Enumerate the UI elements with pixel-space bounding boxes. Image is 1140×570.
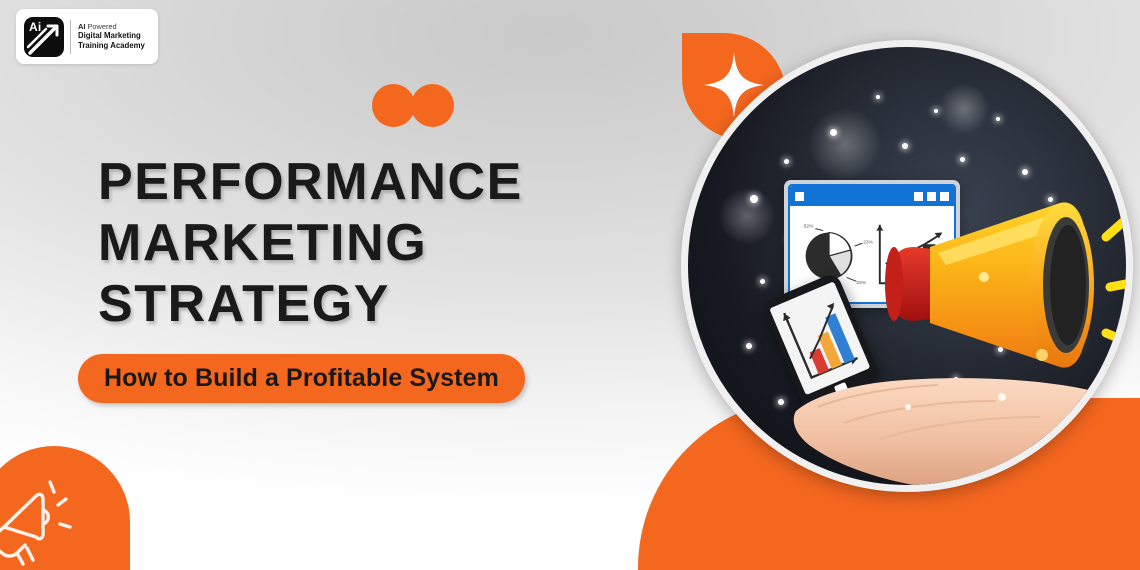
megaphone-icon — [0, 472, 92, 567]
hand-palm — [794, 378, 1133, 492]
orange-dot-icon-right — [411, 84, 454, 127]
subtitle-text: How to Build a Profitable System — [104, 364, 499, 393]
headline-line-2: MARKETING — [98, 213, 523, 274]
logo-tagline-line1: AI Powered — [78, 22, 145, 31]
logo-text-block: AI Powered Digital Marketing Training Ac… — [78, 22, 145, 50]
brand-logo-badge[interactable]: Ai AI Powered Digital Marketing Training… — [16, 9, 158, 64]
open-palm-hand — [788, 347, 1133, 492]
headline-line-3: STRATEGY — [98, 274, 523, 335]
bottom-left-arch-decoration — [0, 446, 130, 570]
hero-image-circle: 52% 23% 25% — [681, 40, 1133, 492]
svg-text:52%: 52% — [804, 224, 814, 230]
headline-line-1: PERFORMANCE — [98, 152, 523, 213]
promo-banner: Ai AI Powered Digital Marketing Training… — [0, 0, 1140, 570]
browser-logo-square — [795, 192, 804, 201]
logo-tagline-line3: Training Academy — [78, 41, 145, 51]
subtitle-pill: How to Build a Profitable System — [78, 354, 525, 403]
sound-wave-dashes — [1096, 197, 1133, 367]
logo-tagline-line2: Digital Marketing — [78, 31, 145, 41]
growth-arrow-icon — [24, 17, 64, 57]
orange-dots-decoration — [372, 84, 454, 127]
logo-mark-icon: Ai — [24, 17, 64, 57]
orange-dot-icon-left — [372, 84, 415, 127]
page-title: PERFORMANCE MARKETING STRATEGY — [98, 152, 523, 334]
logo-divider — [70, 20, 71, 54]
